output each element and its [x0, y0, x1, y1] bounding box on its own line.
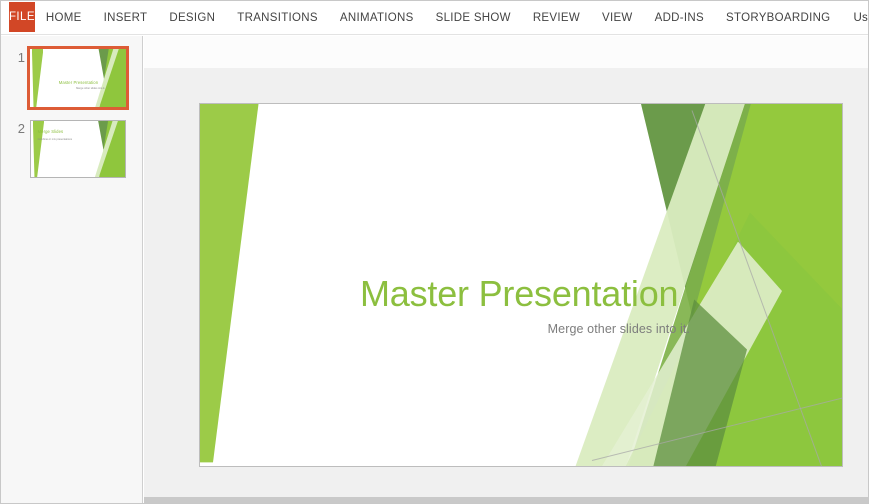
- slide-navigator-panel[interactable]: 1 Master Presentation Merge other slides…: [1, 36, 143, 503]
- slide-title-text[interactable]: Master Presentation: [360, 276, 690, 312]
- thumbnail-artwork: [30, 49, 126, 107]
- slide-canvas[interactable]: Master Presentation Merge other slides i…: [199, 103, 843, 467]
- tab-view[interactable]: VIEW: [591, 1, 644, 35]
- slide-thumbnail-row-1[interactable]: 1 Master Presentation Merge other slides…: [7, 49, 126, 107]
- slide-number-2: 2: [7, 120, 25, 135]
- ribbon-tabs: HOME INSERT DESIGN TRANSITIONS ANIMATION…: [35, 1, 842, 35]
- slide-subtitle-text[interactable]: Merge other slides into it.: [360, 322, 690, 336]
- tab-storyboarding[interactable]: STORYBOARDING: [715, 1, 841, 35]
- wedge-shape: [32, 49, 44, 107]
- thumbnail-title-2: Merge Slides: [38, 130, 64, 135]
- account-user-name[interactable]: Usman Aziz: [853, 1, 869, 35]
- tab-home[interactable]: HOME: [35, 1, 93, 35]
- workspace-bottom-strip: [144, 497, 868, 503]
- ribbon-tab-bar: FILE HOME INSERT DESIGN TRANSITIONS ANIM…: [1, 1, 869, 35]
- powerpoint-window: FILE HOME INSERT DESIGN TRANSITIONS ANIM…: [0, 0, 869, 504]
- tab-animations[interactable]: ANIMATIONS: [329, 1, 425, 35]
- thumbnail-subtitle-2: Combine or mix presentations: [38, 139, 72, 142]
- thumbnail-subtitle-1: Merge other slides into it.: [76, 88, 105, 91]
- slide-thumbnail-row-2[interactable]: 2 Merge Slides Combine or mix presentati…: [7, 120, 126, 178]
- left-green-wedge: [200, 104, 330, 466]
- tab-design[interactable]: DESIGN: [158, 1, 226, 35]
- slide-number-1: 1: [7, 49, 25, 64]
- thumbnail-title-1: Master Presentation: [59, 81, 98, 86]
- tab-file[interactable]: FILE: [9, 2, 35, 32]
- slide-thumbnail-2[interactable]: Merge Slides Combine or mix presentation…: [30, 120, 126, 178]
- tab-slide-show[interactable]: SLIDE SHOW: [425, 1, 522, 35]
- slide-thumbnail-1[interactable]: Master Presentation Merge other slides i…: [30, 49, 126, 107]
- tab-transitions[interactable]: TRANSITIONS: [226, 1, 329, 35]
- workspace-top-band: [144, 36, 868, 68]
- tab-insert[interactable]: INSERT: [93, 1, 159, 35]
- editing-workspace: Master Presentation Merge other slides i…: [144, 36, 868, 503]
- tab-add-ins[interactable]: ADD-INS: [644, 1, 715, 35]
- tab-review[interactable]: REVIEW: [522, 1, 591, 35]
